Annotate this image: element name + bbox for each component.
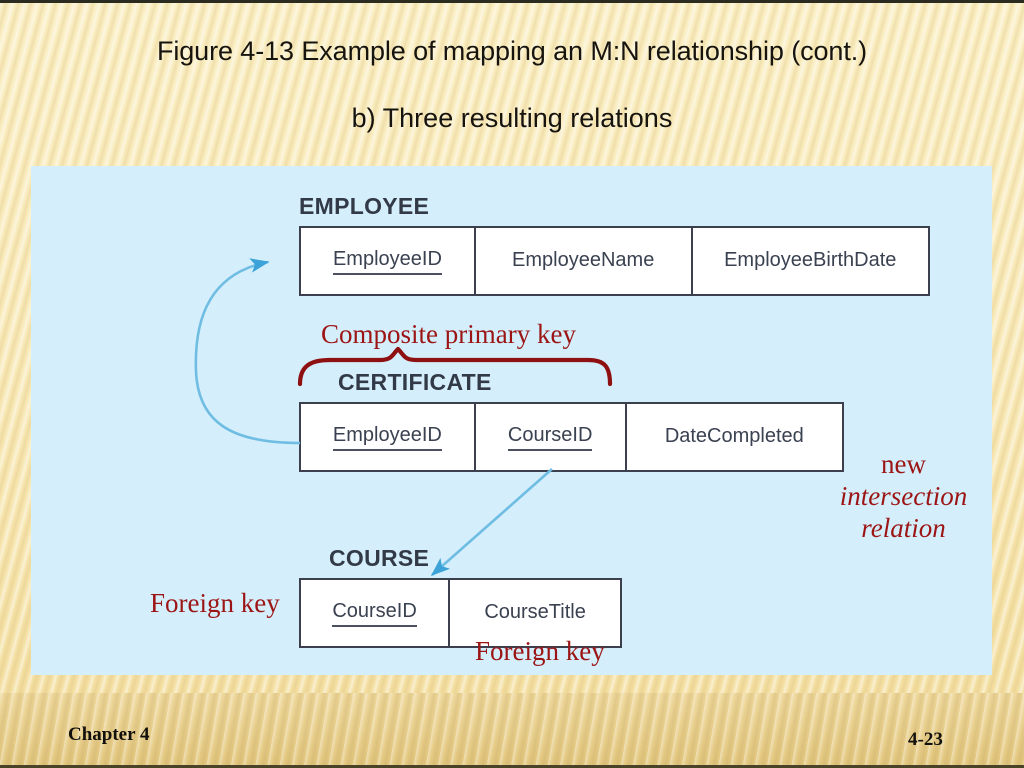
annotation-composite-primary-key: Composite primary key bbox=[321, 319, 576, 350]
relation-name-certificate: CERTIFICATE bbox=[338, 369, 492, 396]
annotation-new-line-1: new bbox=[821, 449, 986, 481]
footer-chapter-label: Chapter 4 bbox=[68, 724, 149, 746]
relation-name-course: COURSE bbox=[329, 545, 429, 572]
attribute-cell-employee-employeebirthdate: EmployeeBirthDate bbox=[693, 228, 928, 294]
attribute-cell-employee-employeeid: EmployeeID bbox=[301, 228, 476, 294]
annotation-new-line-2: intersection bbox=[821, 481, 986, 513]
attribute-label: EmployeeID bbox=[333, 424, 442, 451]
attribute-label: EmployeeBirthDate bbox=[724, 249, 896, 274]
annotation-new-intersection-relation: new intersection relation bbox=[821, 449, 986, 545]
attribute-label: CourseTitle bbox=[484, 601, 586, 626]
relation-table-certificate: EmployeeID CourseID DateCompleted bbox=[299, 402, 844, 472]
annotation-new-line-3: relation bbox=[821, 513, 986, 545]
annotation-foreign-key-middle: Foreign key bbox=[475, 636, 605, 667]
footer-bar bbox=[0, 693, 1024, 768]
attribute-cell-certificate-datecompleted: DateCompleted bbox=[627, 404, 842, 470]
slide-canvas: Figure 4-13 Example of mapping an M:N re… bbox=[0, 0, 1024, 768]
attribute-cell-course-courseid: CourseID bbox=[301, 580, 450, 646]
attribute-label: EmployeeName bbox=[512, 249, 654, 274]
figure-panel: EMPLOYEE EmployeeID EmployeeName Employe… bbox=[31, 166, 992, 675]
footer-page-number: 4-23 bbox=[908, 729, 943, 751]
attribute-label: DateCompleted bbox=[665, 425, 804, 450]
attribute-cell-employee-employeename: EmployeeName bbox=[476, 228, 693, 294]
attribute-label: CourseID bbox=[332, 600, 416, 627]
attribute-label: CourseID bbox=[508, 424, 592, 451]
attribute-cell-certificate-courseid: CourseID bbox=[476, 404, 627, 470]
attribute-label: EmployeeID bbox=[333, 248, 442, 275]
annotation-foreign-key-left: Foreign key bbox=[150, 588, 280, 619]
page-subtitle: b) Three resulting relations bbox=[0, 103, 1024, 134]
attribute-cell-certificate-employeeid: EmployeeID bbox=[301, 404, 476, 470]
relation-name-employee: EMPLOYEE bbox=[299, 193, 429, 220]
page-title: Figure 4-13 Example of mapping an M:N re… bbox=[0, 36, 1024, 67]
relation-table-employee: EmployeeID EmployeeName EmployeeBirthDat… bbox=[299, 226, 930, 296]
